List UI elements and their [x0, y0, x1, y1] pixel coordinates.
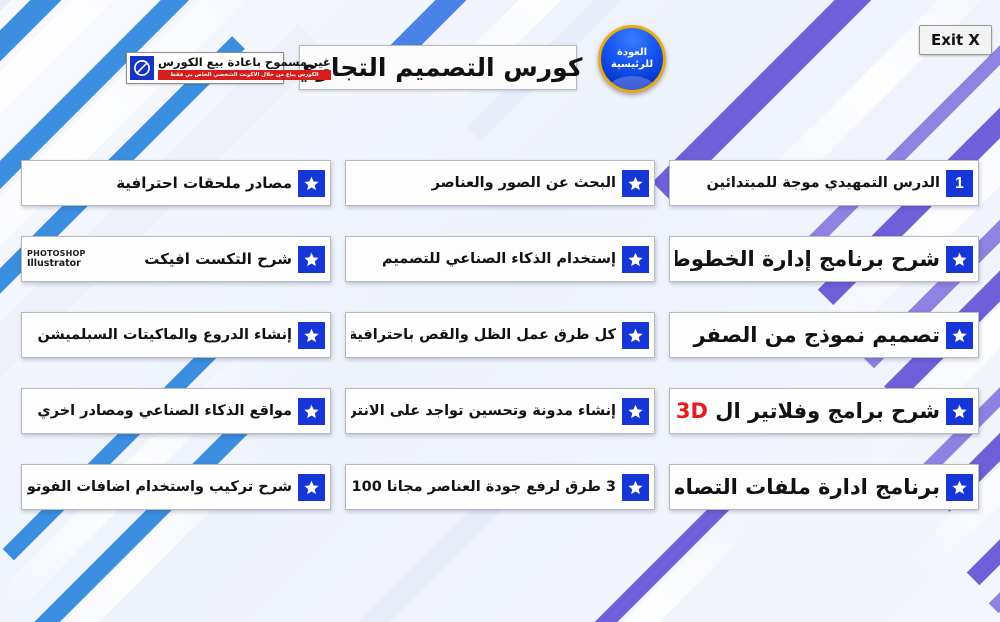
no-entry-icon — [130, 56, 154, 80]
home-button[interactable]: العودة للرئيسية — [598, 25, 666, 93]
lesson-card[interactable]: إنشاء الدروع والماكيتات السبلميشن — [21, 312, 331, 358]
lesson-label: برنامج ادارة ملفات التصاميم — [675, 475, 940, 499]
app-mark: PHOTOSHOPIllustrator — [27, 249, 86, 269]
star-icon — [298, 474, 325, 501]
page-title: كورس التصميم التجاري — [299, 45, 577, 90]
lesson-label-accent: 3D — [676, 399, 708, 423]
lesson-card[interactable]: البحث عن الصور والعناصر — [345, 160, 655, 206]
lesson-card[interactable]: مواقع الذكاء الصناعي ومصادر اخري — [21, 388, 331, 434]
lesson-label: إنشاء الدروع والماكيتات السبلميشن — [27, 327, 292, 343]
lesson-card[interactable]: شرح تركيب واستخدام اضافات الفوتوشوب — [21, 464, 331, 510]
lesson-card[interactable]: شرح برنامج إدارة الخطوط — [669, 236, 979, 282]
stripe-purple-pale-5 — [535, 498, 766, 622]
lesson-card[interactable]: شرح التكست افيكتPHOTOSHOPIllustrator — [21, 236, 331, 282]
lesson-label: الدرس التمهيدي موجة للمبتدائين — [675, 175, 940, 191]
star-icon — [622, 474, 649, 501]
star-icon — [298, 170, 325, 197]
lesson-label: شرح تركيب واستخدام اضافات الفوتوشوب — [27, 479, 292, 495]
lesson-card[interactable]: مصادر ملحقات احترافية — [21, 160, 331, 206]
resale-warning-badge: غير مسموح باعادة بيع الكورس الكورس يباع … — [126, 52, 284, 84]
star-icon — [946, 246, 973, 273]
home-button-line2: للرئيسية — [611, 59, 653, 71]
page-title-text: كورس التصميم التجاري — [294, 53, 583, 82]
lesson-number: 1 — [955, 170, 964, 197]
lesson-card[interactable]: إستخدام الذكاء الصناعي للتصميم — [345, 236, 655, 282]
home-button-line1: العودة — [617, 47, 647, 59]
star-icon — [946, 322, 973, 349]
lesson-card[interactable]: 1الدرس التمهيدي موجة للمبتدائين — [669, 160, 979, 206]
star-icon — [946, 474, 973, 501]
lesson-card[interactable]: شرح برامج وفلاتير ال 3D — [669, 388, 979, 434]
lesson-label: تصميم نموذج من الصفر — [675, 323, 940, 347]
lesson-card[interactable]: إنشاء مدونة وتحسين تواجد على الانترنت — [345, 388, 655, 434]
lesson-label: إنشاء مدونة وتحسين تواجد على الانترنت — [351, 403, 616, 419]
stripe-pale-1 — [0, 0, 227, 180]
warning-subtitle: الكورس يباع من خلال الاكونت الشخصي الخاص… — [158, 70, 331, 80]
lesson-label: شرح برنامج إدارة الخطوط — [675, 247, 940, 271]
lesson-label: إستخدام الذكاء الصناعي للتصميم — [351, 251, 616, 267]
app-mark-illustrator: Illustrator — [27, 259, 86, 269]
star-icon — [622, 246, 649, 273]
star-icon — [622, 322, 649, 349]
star-icon — [298, 246, 325, 273]
lesson-card[interactable]: كل طرق عمل الظل والقص باحترافية — [345, 312, 655, 358]
lesson-label: مصادر ملحقات احترافية — [27, 174, 292, 192]
exit-button[interactable]: Exit X — [919, 25, 992, 55]
star-icon — [298, 322, 325, 349]
lesson-card[interactable]: تصميم نموذج من الصفر — [669, 312, 979, 358]
lesson-label: 3 طرق لرفع جودة العناصر مجانا 100% — [351, 479, 616, 495]
lesson-label: كل طرق عمل الظل والقص باحترافية — [351, 327, 616, 343]
lesson-label: مواقع الذكاء الصناعي ومصادر اخري — [27, 403, 292, 419]
lesson-label: البحث عن الصور والعناصر — [351, 175, 616, 191]
home-button-inner: العودة للرئيسية — [601, 28, 663, 90]
lesson-card[interactable]: 3 طرق لرفع جودة العناصر مجانا 100% — [345, 464, 655, 510]
warning-title: غير مسموح باعادة بيع الكورس — [158, 55, 331, 69]
star-icon — [298, 398, 325, 425]
star-icon — [622, 398, 649, 425]
lesson-number-badge: 1 — [946, 170, 973, 197]
lesson-label-text: شرح برامج وفلاتير ال — [708, 399, 940, 423]
star-icon — [622, 170, 649, 197]
app-window: غير مسموح باعادة بيع الكورس الكورس يباع … — [0, 0, 1000, 622]
lesson-grid: 1الدرس التمهيدي موجة للمبتدائينالبحث عن … — [0, 160, 1000, 510]
lesson-card[interactable]: برنامج ادارة ملفات التصاميم — [669, 464, 979, 510]
lesson-label: شرح التكست افيكت — [90, 250, 292, 268]
lesson-label: شرح برامج وفلاتير ال 3D — [675, 399, 940, 423]
star-icon — [946, 398, 973, 425]
